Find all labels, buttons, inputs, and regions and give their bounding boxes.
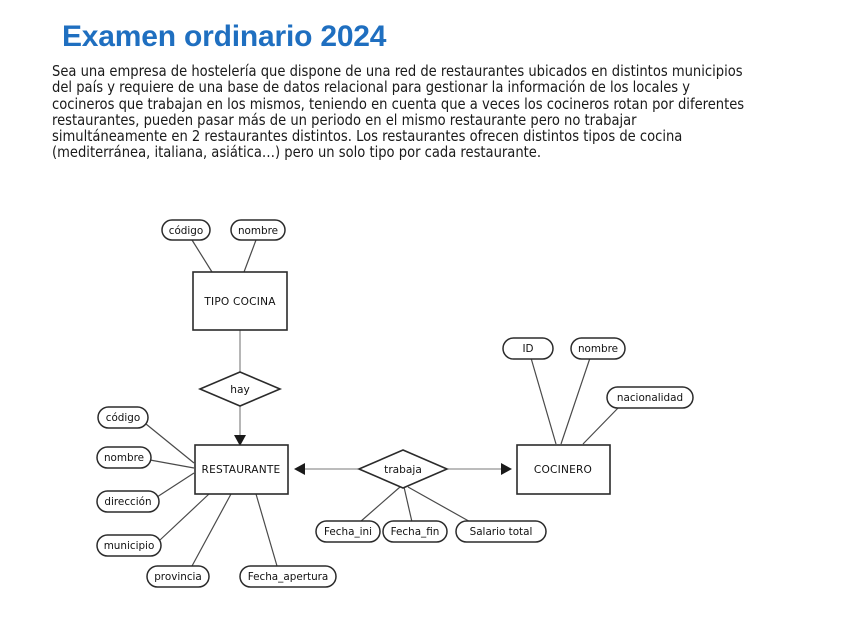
- attribute-trabaja-salario-total[interactable]: Salario total: [456, 521, 546, 542]
- leg-restaurante-fechaapertura: [256, 494, 277, 566]
- entity-cocinero[interactable]: COCINERO: [517, 445, 610, 494]
- leg-tipococina-nombre: [244, 240, 256, 272]
- entity-cocinero-label: COCINERO: [534, 464, 592, 476]
- page-title: Examen ordinario 2024: [62, 20, 386, 54]
- attribute-restaurante-nombre-label: nombre: [104, 452, 144, 464]
- attribute-trabaja-salario-total-label: Salario total: [470, 526, 533, 538]
- attribute-tipococina-codigo[interactable]: código: [162, 220, 210, 240]
- leg-tipococina-codigo: [192, 240, 212, 272]
- attribute-restaurante-provincia[interactable]: provincia: [147, 566, 209, 587]
- leg-cocinero-nombre: [561, 358, 590, 444]
- exercise-statement-text: Sea una empresa de hostelería que dispon…: [52, 63, 753, 161]
- leg-trabaja-salariototal: [408, 487, 474, 524]
- entity-tipo-cocina[interactable]: TIPO COCINA: [193, 272, 287, 330]
- entity-restaurante[interactable]: RESTAURANTE: [195, 445, 288, 494]
- attribute-restaurante-fecha-apertura-label: Fecha_apertura: [248, 571, 329, 583]
- leg-cocinero-id: [531, 358, 556, 444]
- relationship-hay-label: hay: [230, 384, 249, 396]
- leg-trabaja-fechafin: [404, 487, 412, 522]
- attribute-restaurante-direccion[interactable]: dirección: [97, 491, 159, 512]
- relationship-trabaja[interactable]: trabaja: [359, 450, 447, 488]
- leg-restaurante-nombre: [150, 460, 194, 468]
- attribute-trabaja-fecha-ini-label: Fecha_ini: [324, 526, 372, 538]
- attribute-restaurante-municipio-label: municipio: [104, 540, 155, 552]
- attribute-trabaja-fecha-fin-label: Fecha_fin: [391, 526, 440, 538]
- entity-restaurante-label: RESTAURANTE: [202, 464, 281, 476]
- relationship-trabaja-label: trabaja: [384, 464, 422, 476]
- attribute-restaurante-direccion-label: dirección: [104, 496, 151, 508]
- attribute-restaurante-fecha-apertura[interactable]: Fecha_apertura: [240, 566, 336, 587]
- attribute-cocinero-nacionalidad-label: nacionalidad: [617, 392, 683, 404]
- attribute-restaurante-municipio[interactable]: municipio: [97, 535, 161, 556]
- attribute-cocinero-nombre-label: nombre: [578, 343, 618, 355]
- arrow-into-cocinero-left: [501, 463, 512, 475]
- leg-trabaja-fechaini: [360, 487, 400, 522]
- attribute-cocinero-id-label: ID: [522, 343, 533, 355]
- attribute-trabaja-fecha-fin[interactable]: Fecha_fin: [383, 521, 447, 542]
- er-diagram: TIPO COCINA RESTAURANTE COCINERO hay tra…: [0, 195, 848, 600]
- leg-restaurante-codigo: [146, 424, 194, 463]
- attribute-restaurante-nombre[interactable]: nombre: [97, 447, 151, 468]
- relationship-hay[interactable]: hay: [200, 372, 280, 406]
- attribute-tipococina-codigo-label: código: [169, 225, 204, 237]
- attribute-tipococina-nombre-label: nombre: [238, 225, 278, 237]
- leg-cocinero-nacionalidad: [583, 406, 620, 444]
- attribute-restaurante-codigo-label: código: [106, 412, 141, 424]
- leg-restaurante-direccion: [157, 473, 194, 497]
- attribute-cocinero-nombre[interactable]: nombre: [571, 338, 625, 359]
- attribute-cocinero-id[interactable]: ID: [503, 338, 553, 359]
- entity-tipo-cocina-label: TIPO COCINA: [203, 296, 276, 308]
- attribute-trabaja-fecha-ini[interactable]: Fecha_ini: [316, 521, 380, 542]
- leg-restaurante-municipio: [160, 494, 209, 540]
- attribute-restaurante-codigo[interactable]: código: [98, 407, 148, 428]
- attribute-restaurante-provincia-label: provincia: [154, 571, 202, 583]
- attribute-cocinero-nacionalidad[interactable]: nacionalidad: [607, 387, 693, 408]
- arrow-into-restaurante-right: [294, 463, 305, 475]
- attribute-tipococina-nombre[interactable]: nombre: [231, 220, 285, 240]
